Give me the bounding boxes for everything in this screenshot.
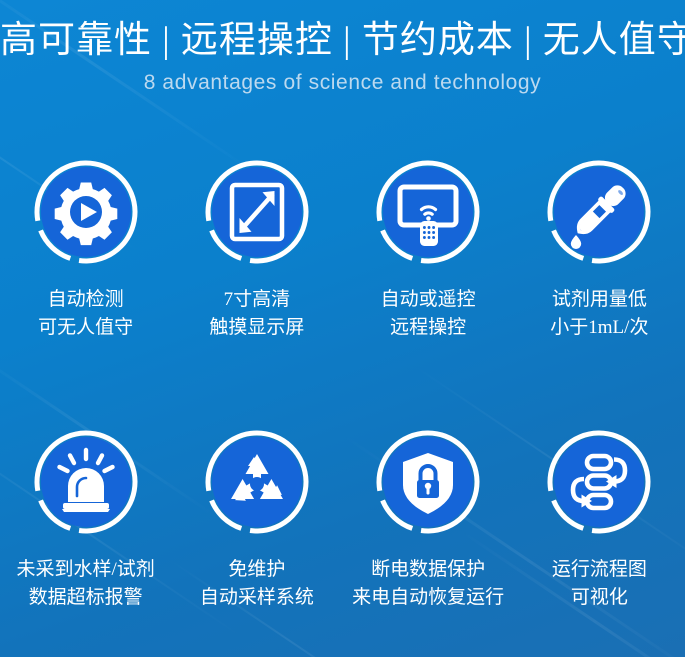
caption-line-2: 数据超标报警 bbox=[16, 584, 154, 612]
poster-root: 高可靠性 | 远程操控 | 节约成本 | 无人值守 8 advantages o… bbox=[0, 0, 685, 657]
caption-line-2: 触摸显示屏 bbox=[209, 314, 304, 342]
caption-line-1: 自动或遥控 bbox=[381, 289, 476, 310]
caption-line-1: 未采到水样/试剂 bbox=[16, 559, 154, 580]
feature-item-auto-detection[interactable]: 自动检测 可无人值守 bbox=[0, 140, 171, 410]
feature-item-touchscreen[interactable]: 7寸高清 触摸显示屏 bbox=[171, 140, 342, 410]
poster-header: 高可靠性 | 远程操控 | 节约成本 | 无人值守 8 advantages o… bbox=[0, 0, 685, 98]
features-row-1: 自动检测 可无人值守 7寸高清 bbox=[0, 140, 685, 410]
feature-item-flowchart[interactable]: 运行流程图 可视化 bbox=[514, 410, 685, 657]
feature-caption: 断电数据保护 来电自动恢复运行 bbox=[352, 556, 504, 612]
caption-line-2: 自动采样系统 bbox=[200, 584, 314, 612]
caption-line-1: 试剂用量低 bbox=[552, 289, 647, 310]
feature-item-alarm[interactable]: 未采到水样/试剂 数据超标报警 bbox=[0, 410, 171, 657]
feature-item-maintenance-free[interactable]: 免维护 自动采样系统 bbox=[171, 410, 342, 657]
features-row-2: 未采到水样/试剂 数据超标报警 bbox=[0, 410, 685, 657]
alarm-siren-icon bbox=[30, 426, 142, 538]
page-title: 高可靠性 | 远程操控 | 节约成本 | 无人值守 bbox=[0, 18, 685, 64]
feature-caption: 自动或遥控 远程操控 bbox=[381, 286, 476, 342]
caption-line-1: 运行流程图 bbox=[552, 559, 647, 580]
recycle-icon bbox=[201, 426, 313, 538]
caption-line-1: 断电数据保护 bbox=[371, 559, 485, 580]
feature-caption: 自动检测 可无人值守 bbox=[38, 286, 133, 342]
caption-line-2: 可视化 bbox=[552, 584, 647, 612]
features-grid: 自动检测 可无人值守 7寸高清 bbox=[0, 140, 685, 657]
caption-line-2: 小于1mL/次 bbox=[550, 314, 648, 342]
feature-caption: 免维护 自动采样系统 bbox=[200, 556, 314, 612]
caption-line-2: 来电自动恢复运行 bbox=[352, 584, 504, 612]
caption-line-2: 远程操控 bbox=[381, 314, 476, 342]
feature-caption: 运行流程图 可视化 bbox=[552, 556, 647, 612]
gear-play-icon bbox=[30, 156, 142, 268]
page-subtitle: 8 advantages of science and technology bbox=[0, 68, 685, 98]
shield-lock-icon bbox=[372, 426, 484, 538]
caption-line-2: 可无人值守 bbox=[38, 314, 133, 342]
tv-remote-icon bbox=[372, 156, 484, 268]
feature-caption: 7寸高清 触摸显示屏 bbox=[209, 286, 304, 342]
flowchart-icon bbox=[543, 426, 655, 538]
feature-item-low-reagent[interactable]: 试剂用量低 小于1mL/次 bbox=[514, 140, 685, 410]
feature-caption: 未采到水样/试剂 数据超标报警 bbox=[16, 556, 154, 612]
caption-line-1: 自动检测 bbox=[48, 289, 124, 310]
caption-line-1: 免维护 bbox=[228, 559, 285, 580]
caption-line-1: 7寸高清 bbox=[224, 289, 291, 310]
dropper-icon bbox=[543, 156, 655, 268]
expand-screen-icon bbox=[201, 156, 313, 268]
feature-caption: 试剂用量低 小于1mL/次 bbox=[550, 286, 648, 342]
feature-item-power-protection[interactable]: 断电数据保护 来电自动恢复运行 bbox=[343, 410, 514, 657]
feature-item-remote-control[interactable]: 自动或遥控 远程操控 bbox=[343, 140, 514, 410]
